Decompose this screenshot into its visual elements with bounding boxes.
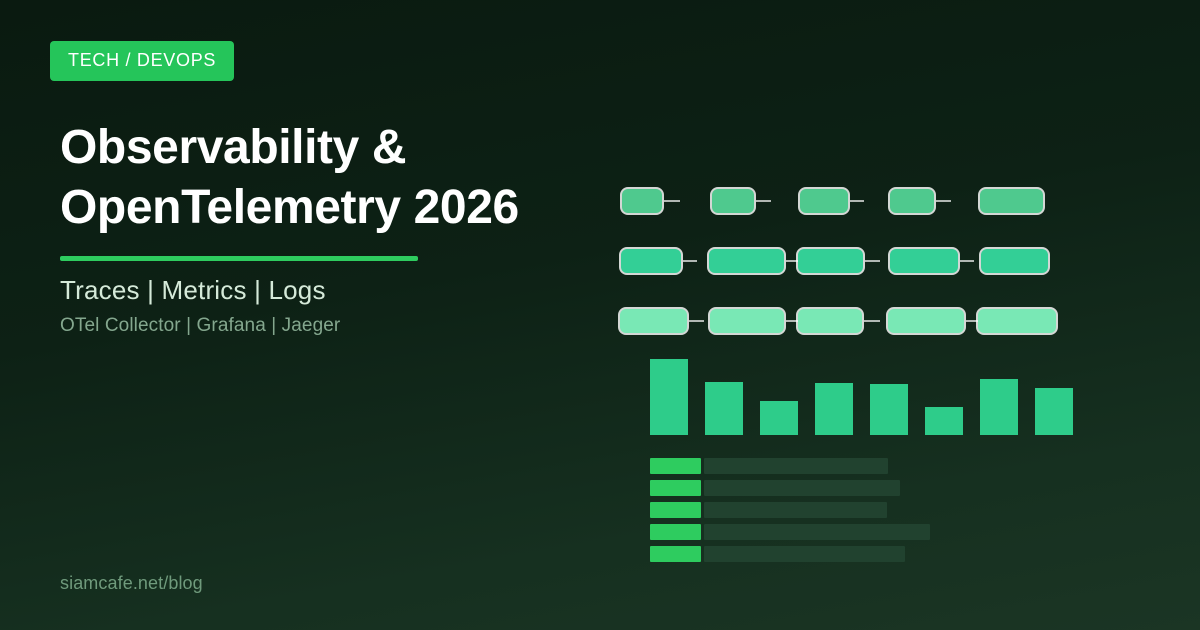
trace-span[interactable] bbox=[620, 309, 687, 333]
trace-span[interactable] bbox=[981, 249, 1048, 273]
hero-content: TECH / DEVOPS Observability & OpenTeleme… bbox=[60, 0, 580, 630]
trace-connector bbox=[936, 200, 951, 202]
metric-bar[interactable] bbox=[705, 382, 743, 435]
page-title: Observability & OpenTelemetry 2026 bbox=[60, 118, 600, 238]
trace-span[interactable] bbox=[978, 309, 1056, 333]
log-row[interactable] bbox=[650, 480, 1120, 496]
log-message-bar bbox=[704, 502, 887, 518]
trace-span[interactable] bbox=[890, 249, 958, 273]
trace-connector bbox=[960, 260, 974, 262]
log-stream-list bbox=[650, 458, 1120, 568]
metric-bar[interactable] bbox=[1035, 388, 1073, 435]
metric-bar[interactable] bbox=[650, 359, 688, 435]
footer-url[interactable]: siamcafe.net/blog bbox=[60, 573, 203, 594]
subtitle-secondary: OTel Collector | Grafana | Jaeger bbox=[60, 313, 340, 339]
log-message-bar bbox=[704, 524, 930, 540]
trace-connector bbox=[865, 260, 880, 262]
log-message-bar bbox=[704, 546, 905, 562]
trace-connector bbox=[864, 320, 880, 322]
trace-span[interactable] bbox=[710, 309, 784, 333]
trace-span[interactable] bbox=[800, 189, 848, 213]
trace-span[interactable] bbox=[888, 309, 964, 333]
trace-connector bbox=[664, 200, 680, 202]
trace-span[interactable] bbox=[622, 189, 662, 213]
category-badge[interactable]: TECH / DEVOPS bbox=[50, 41, 234, 81]
log-level-badge bbox=[650, 458, 701, 474]
metrics-histogram-chart bbox=[650, 352, 1120, 435]
log-level-badge bbox=[650, 546, 701, 562]
accent-divider bbox=[60, 256, 418, 261]
metric-bar[interactable] bbox=[925, 407, 963, 435]
trace-connector bbox=[850, 200, 864, 202]
trace-span[interactable] bbox=[621, 249, 681, 273]
trace-span[interactable] bbox=[798, 309, 862, 333]
trace-span[interactable] bbox=[798, 249, 863, 273]
log-message-bar bbox=[704, 480, 900, 496]
log-level-badge bbox=[650, 480, 701, 496]
metric-bar[interactable] bbox=[980, 379, 1018, 435]
telemetry-visual-panel bbox=[600, 0, 1200, 630]
log-row[interactable] bbox=[650, 458, 1120, 474]
log-row[interactable] bbox=[650, 502, 1120, 518]
trace-connector bbox=[683, 260, 697, 262]
metric-bar[interactable] bbox=[760, 401, 798, 435]
trace-span[interactable] bbox=[980, 189, 1043, 213]
trace-span[interactable] bbox=[709, 249, 784, 273]
trace-connector bbox=[756, 200, 771, 202]
subtitle-primary: Traces | Metrics | Logs bbox=[60, 273, 326, 307]
metric-bar[interactable] bbox=[815, 383, 853, 435]
log-level-badge bbox=[650, 502, 701, 518]
trace-span[interactable] bbox=[712, 189, 754, 213]
log-message-bar bbox=[704, 458, 888, 474]
log-row[interactable] bbox=[650, 546, 1120, 562]
trace-connector bbox=[689, 320, 704, 322]
trace-span[interactable] bbox=[890, 189, 934, 213]
log-level-badge bbox=[650, 524, 701, 540]
metric-bar[interactable] bbox=[870, 384, 908, 435]
log-row[interactable] bbox=[650, 524, 1120, 540]
